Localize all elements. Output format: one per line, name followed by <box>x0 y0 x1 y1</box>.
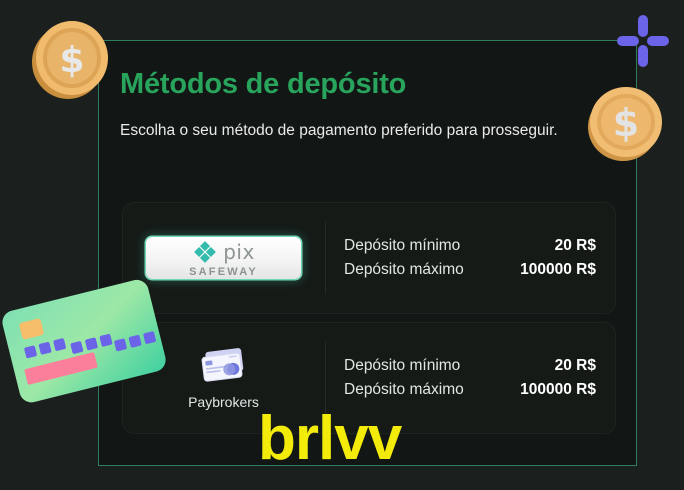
deposit-max-label: Depósito máximo <box>344 381 464 399</box>
page-subtitle: Escolha o seu método de pagamento prefer… <box>120 117 590 144</box>
svg-text:$: $ <box>59 40 84 81</box>
pix-wordmark: pix <box>223 242 255 262</box>
watermark-text: brlvv <box>258 408 401 470</box>
deposit-max-value: 100000 R$ <box>520 381 596 399</box>
pix-mark-row: pix <box>192 239 255 265</box>
deposit-max-line: Depósito máximo 100000 R$ <box>344 261 596 279</box>
deposit-min-value: 20 R$ <box>555 237 596 255</box>
payment-method-row-pix-safeway[interactable]: pix SAFEWAY Depósito mínimo 20 R$ Depósi… <box>122 202 616 314</box>
deposit-max-line: Depósito máximo 100000 R$ <box>344 381 596 399</box>
pix-diamond-icon <box>192 239 218 265</box>
deposit-min-line: Depósito mínimo 20 R$ <box>344 357 596 375</box>
deposit-max-label: Depósito máximo <box>344 261 464 279</box>
deposit-max-value: 100000 R$ <box>520 261 596 279</box>
deposit-min-value: 20 R$ <box>555 357 596 375</box>
paybrokers-label: Paybrokers <box>188 394 259 410</box>
page-title: Métodos de depósito <box>120 68 406 101</box>
payment-method-limits: Depósito mínimo 20 R$ Depósito máximo 10… <box>344 202 596 314</box>
method-divider <box>325 222 326 294</box>
payment-method-logo-cell: pix SAFEWAY <box>122 202 325 314</box>
pix-safeway-logo[interactable]: pix SAFEWAY <box>146 237 301 279</box>
pix-safeway-wordmark: SAFEWAY <box>189 266 258 278</box>
deposit-min-line: Depósito mínimo 20 R$ <box>344 237 596 255</box>
deposit-min-label: Depósito mínimo <box>344 237 460 255</box>
paybrokers-cards-icon[interactable] <box>197 347 251 387</box>
deposit-methods-screen: Métodos de depósito Escolha o seu método… <box>0 0 684 490</box>
deposit-min-label: Depósito mínimo <box>344 357 460 375</box>
